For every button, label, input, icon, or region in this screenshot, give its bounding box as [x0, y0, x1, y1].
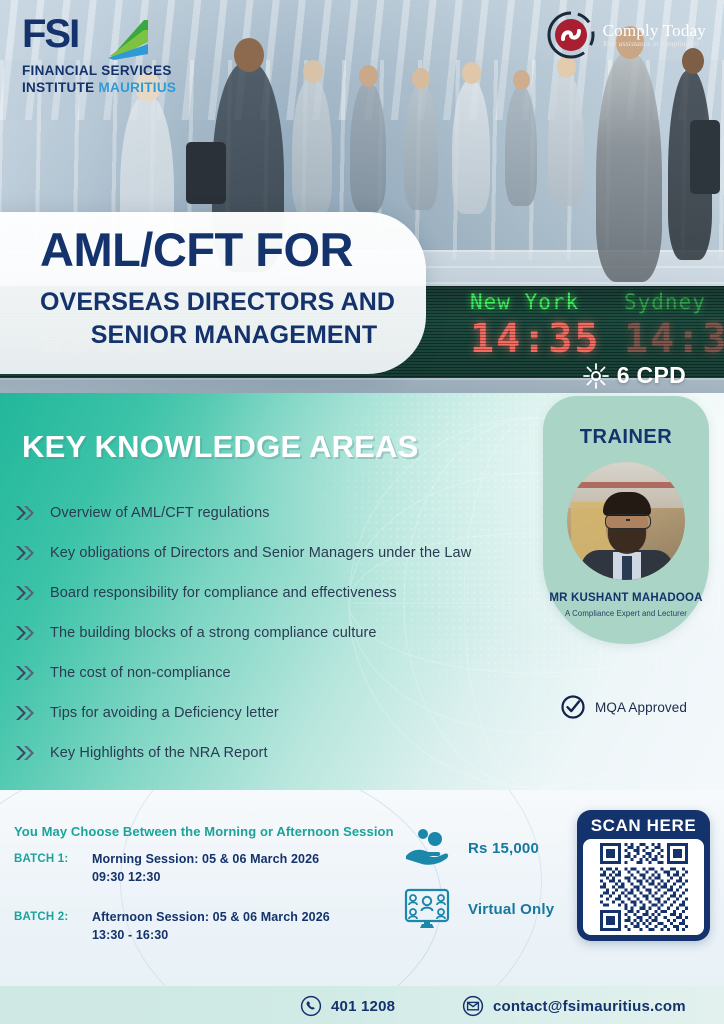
scan-here-label: SCAN HERE	[577, 816, 710, 836]
crowd-figure	[292, 78, 332, 218]
double-chevron-icon	[14, 663, 36, 683]
delivery-mode-row: Virtual Only	[404, 888, 554, 930]
list-item: Key Highlights of the NRA Report	[14, 733, 534, 773]
board-time-0: 14:35	[470, 316, 600, 362]
check-circle-icon	[560, 694, 586, 720]
fsi-mauritius-label: MAURITIUS	[99, 80, 177, 95]
price-label: Rs 15,000	[468, 840, 539, 857]
crowd-figure	[548, 74, 584, 206]
crowd-figure	[462, 62, 481, 84]
mqa-approved-badge: MQA Approved	[560, 694, 687, 720]
email-address: contact@fsimauritius.com	[493, 998, 686, 1015]
crowd-figure	[303, 60, 323, 83]
batch-label: BATCH 2:	[14, 908, 80, 923]
crowd-figure	[412, 68, 430, 89]
page-title: AML/CFT FOR	[40, 226, 353, 273]
cpd-label: 6 CPD	[617, 362, 686, 389]
comply-today-text: Comply Today Your assistance in complian…	[603, 22, 706, 48]
hero-banner: New York 14:35 Sydney 14:35 London 09:35…	[0, 0, 724, 396]
crowd-figure	[350, 82, 386, 212]
phone-contact[interactable]: 401 1208	[300, 995, 395, 1017]
double-chevron-icon	[14, 623, 36, 643]
fsi-logo: FSI FINANCIAL SERVICES INSTITUTE MAURITI…	[22, 14, 176, 97]
fsi-wordmark: FSI	[22, 14, 78, 54]
fsi-swoosh-icon	[104, 16, 160, 60]
crowd-figure	[505, 86, 537, 206]
crowd-figure	[359, 65, 378, 87]
fsi-tagline-1: FINANCIAL SERVICES	[22, 63, 176, 80]
comply-today-mark-icon	[546, 10, 596, 60]
batch-session-line: Morning Session: 05 & 06 March 2026	[92, 850, 319, 868]
double-chevron-icon	[14, 743, 36, 763]
page-subtitle: OVERSEAS DIRECTORS AND SENIOR MANAGEMENT	[40, 286, 440, 352]
mqa-approved-label: MQA Approved	[595, 700, 687, 715]
trainer-name: MR KUSHANT MAHADOOA	[543, 592, 709, 604]
luggage	[690, 120, 720, 194]
section-heading: KEY KNOWLEDGE AREAS	[22, 429, 419, 465]
email-contact[interactable]: contact@fsimauritius.com	[462, 995, 686, 1017]
crowd-figure	[404, 84, 438, 210]
trainer-label: TRAINER	[543, 426, 709, 449]
page-subtitle-line1: OVERSEAS DIRECTORS AND	[40, 286, 440, 319]
batch-time-line: 09:30 12:30	[92, 868, 319, 886]
list-item: The building blocks of a strong complian…	[14, 613, 534, 653]
list-item-label: Overview of AML/CFT regulations	[50, 505, 270, 521]
scan-qr-panel[interactable]: SCAN HERE	[577, 810, 710, 941]
price-row: Rs 15,000	[404, 828, 539, 868]
cpd-badge: 6 CPD	[583, 362, 686, 389]
trainer-card: TRAINER MR KUSHANT MAHADOOA A Compliance…	[543, 396, 709, 644]
list-item-label: Key Highlights of the NRA Report	[50, 745, 268, 761]
batch-details: Afternoon Session: 05 & 06 March 2026 13…	[92, 908, 330, 944]
board-city-1: Sydney	[624, 290, 706, 314]
comply-today-name: Comply Today	[603, 22, 706, 40]
double-chevron-icon	[14, 703, 36, 723]
hand-coins-icon	[404, 828, 450, 868]
fsi-tagline-2: INSTITUTE MAURITIUS	[22, 80, 176, 97]
contact-footer: 401 1208 contact@fsimauritius.com	[0, 986, 724, 1024]
title-block: AML/CFT FOR OVERSEAS DIRECTORS AND SENIO…	[0, 212, 470, 380]
crowd-figure	[234, 38, 264, 72]
list-item: Key obligations of Directors and Senior …	[14, 533, 534, 573]
batch-row: BATCH 1: Morning Session: 05 & 06 March …	[14, 850, 319, 886]
trainer-glasses	[605, 514, 651, 529]
comply-today-tagline: Your assistance in compliance!	[603, 40, 706, 48]
trainer-photo-background	[567, 482, 685, 488]
qr-code-image	[600, 843, 688, 931]
luggage	[186, 142, 226, 204]
session-choice-note: You May Choose Between the Morning or Af…	[14, 824, 394, 839]
video-conference-icon	[404, 888, 450, 930]
phone-number: 401 1208	[331, 998, 395, 1015]
trainer-hair	[603, 492, 651, 516]
trainer-avatar	[567, 462, 685, 580]
trainer-glasses	[626, 519, 630, 521]
sunburst-icon	[583, 363, 609, 389]
qr-code[interactable]	[583, 839, 704, 935]
list-item: Overview of AML/CFT regulations	[14, 493, 534, 533]
course-flyer: New York 14:35 Sydney 14:35 London 09:35…	[0, 0, 724, 1024]
list-item: Tips for avoiding a Deficiency letter	[14, 693, 534, 733]
list-item-label: The cost of non-compliance	[50, 665, 231, 681]
batch-time-line: 13:30 - 16:30	[92, 926, 330, 944]
fsi-institute-label: INSTITUTE	[22, 80, 94, 95]
board-city-0: New York	[470, 290, 579, 314]
batch-row: BATCH 2: Afternoon Session: 05 & 06 Marc…	[14, 908, 330, 944]
trainer-tie	[622, 556, 632, 580]
crowd-figure	[513, 70, 530, 90]
list-item-label: Board responsibility for compliance and …	[50, 585, 397, 601]
phone-icon	[300, 995, 322, 1017]
list-item: Board responsibility for compliance and …	[14, 573, 534, 613]
knowledge-list: Overview of AML/CFT regulations Key obli…	[14, 493, 534, 773]
crowd-figure	[452, 80, 490, 214]
double-chevron-icon	[14, 503, 36, 523]
trainer-role: A Compliance Expert and Lecturer	[543, 609, 709, 618]
list-item-label: The building blocks of a strong complian…	[50, 625, 377, 641]
batch-details: Morning Session: 05 & 06 March 2026 09:3…	[92, 850, 319, 886]
mail-icon	[462, 995, 484, 1017]
batch-session-line: Afternoon Session: 05 & 06 March 2026	[92, 908, 330, 926]
board-time-1: 14:35	[624, 316, 724, 362]
list-item-label: Key obligations of Directors and Senior …	[50, 545, 471, 561]
delivery-mode-label: Virtual Only	[468, 901, 554, 918]
list-item: The cost of non-compliance	[14, 653, 534, 693]
double-chevron-icon	[14, 543, 36, 563]
comply-today-logo: Comply Today Your assistance in complian…	[546, 10, 706, 60]
crowd-figure	[596, 52, 662, 282]
page-subtitle-line2: SENIOR MANAGEMENT	[40, 319, 440, 352]
list-item-label: Tips for avoiding a Deficiency letter	[50, 705, 279, 721]
booking-section: You May Choose Between the Morning or Af…	[0, 790, 724, 986]
double-chevron-icon	[14, 583, 36, 603]
batch-label: BATCH 1:	[14, 850, 80, 865]
